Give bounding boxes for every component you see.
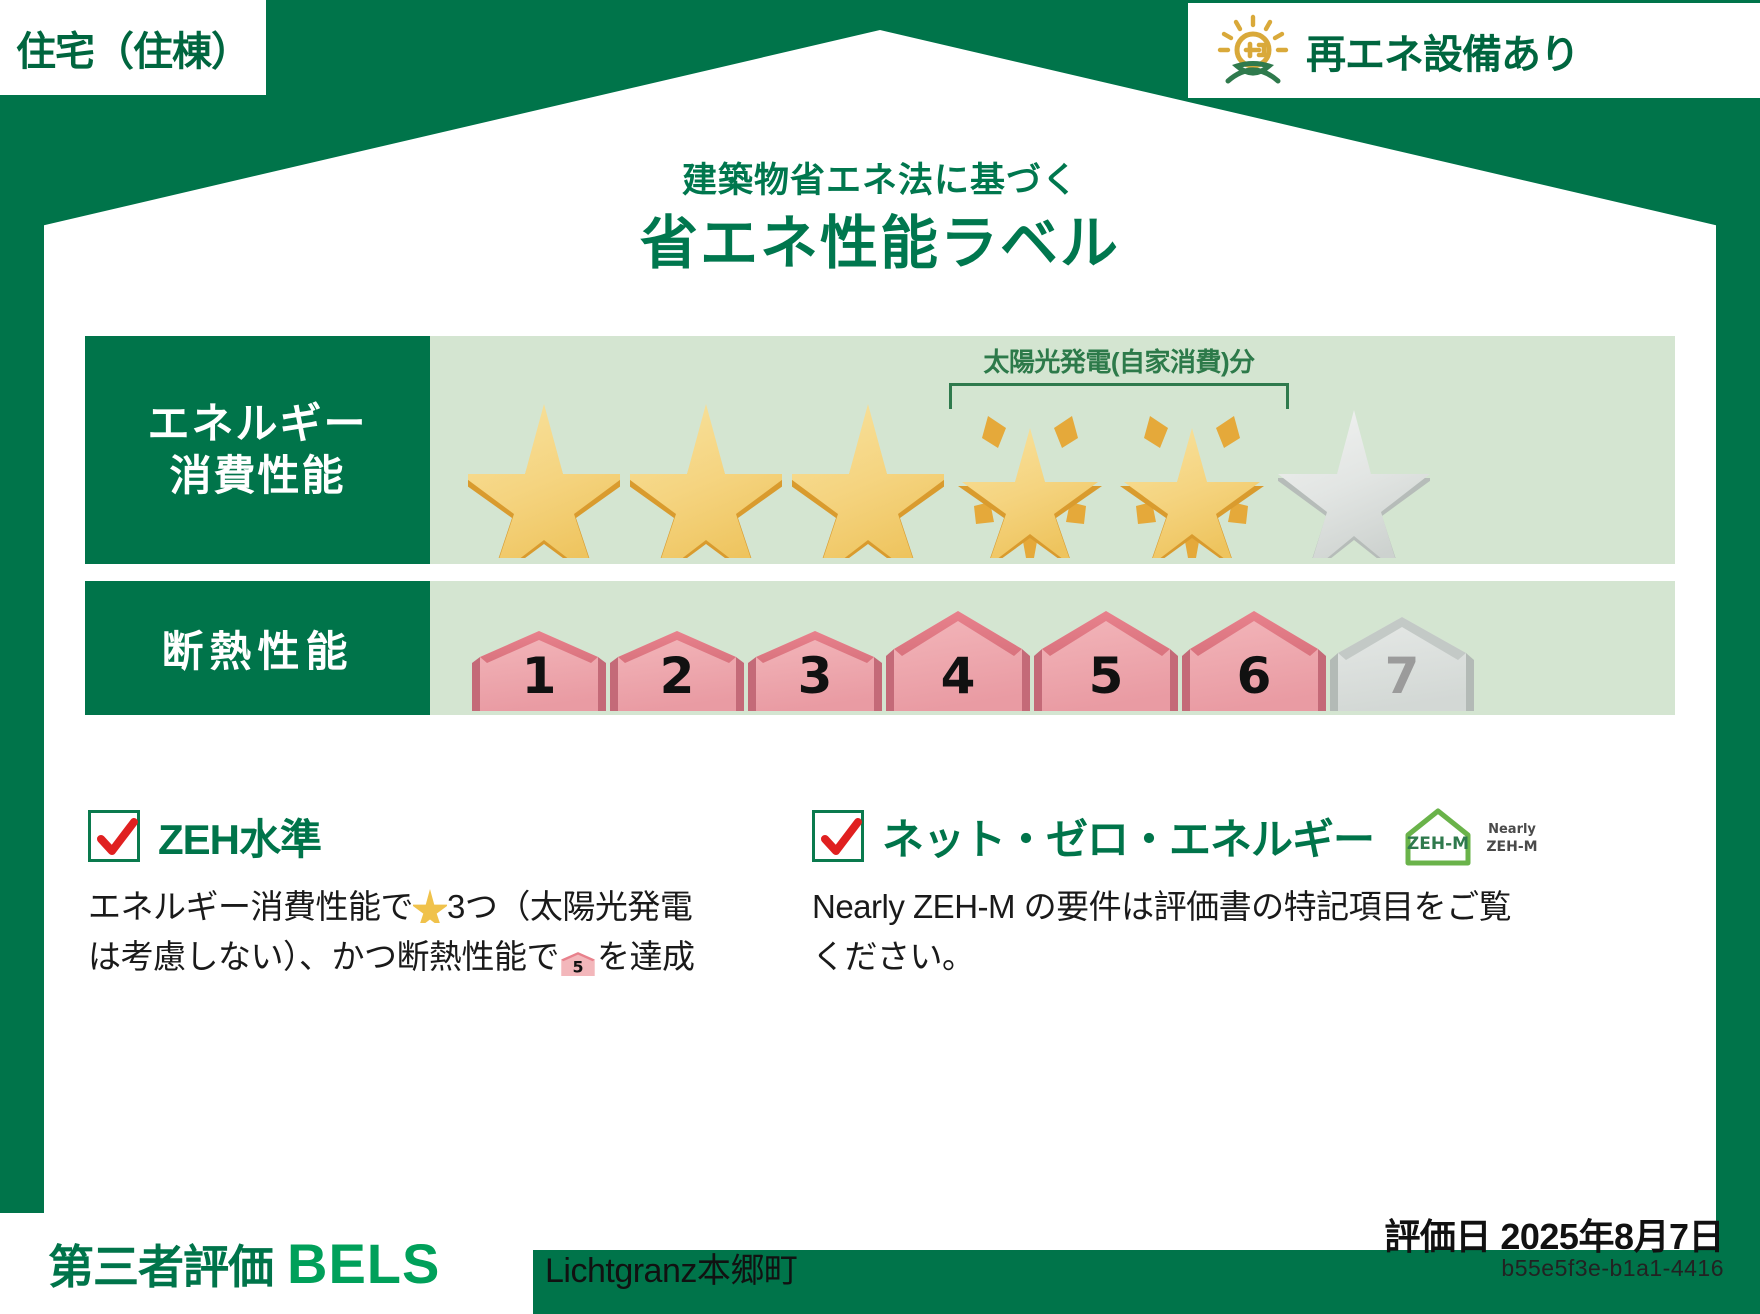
solar-annotation-text: 太陽光発電(自家消費)分 [949, 342, 1289, 379]
star-1-filled [468, 386, 620, 558]
dwelling-type-tag: 住宅（住棟） [0, 0, 266, 95]
check-icon [94, 815, 140, 861]
inline-house-icon: 5 [559, 941, 597, 981]
building-name: Lichtgranz本郷町 [545, 1243, 797, 1292]
zeh-m-logo-icon: ZEH-M Nearly ZEH-M [1402, 805, 1552, 867]
net-zero-energy-title: ネット・ゼロ・エネルギー [882, 806, 1374, 867]
insulation-house-1: 1 [472, 627, 606, 711]
zeh-standard-header: ZEH水準 [88, 808, 788, 864]
insulation-performance-row: 断熱性能 [85, 581, 1675, 715]
nze-checkbox[interactable] [812, 810, 864, 862]
label-title: 省エネ性能ラベル [0, 196, 1760, 280]
zeh-standard-block: ZEH水準 エネルギー消費性能で3つ（太陽光発電 は考慮しない）、かつ断熱性能で… [88, 808, 788, 981]
renewable-equipment-badge: 再エネ設備あり [1188, 3, 1760, 98]
zeh-desc-part3: を達成 [597, 938, 695, 975]
energy-star-rating [468, 386, 1430, 558]
inline-star-icon [413, 885, 447, 919]
third-party-evaluation-label: 第三者評価 [48, 1231, 273, 1297]
sun-plug-icon [1216, 14, 1290, 88]
star-2-filled [630, 386, 782, 558]
star-5-filled-solar [1116, 386, 1268, 558]
energy-label-line1: エネルギー [147, 398, 367, 451]
energy-rating-area: 太陽光発電(自家消費)分 [430, 336, 1675, 564]
zeh-checkbox[interactable] [88, 810, 140, 862]
insulation-level-number: 4 [886, 647, 1030, 705]
bels-logo-text: BELS [287, 1231, 440, 1296]
star-6-empty [1278, 386, 1430, 558]
star-4-filled-solar [954, 386, 1106, 558]
energy-performance-row: エネルギー 消費性能 太陽光発電(自家消費)分 [85, 336, 1675, 564]
insulation-level-number: 2 [610, 647, 744, 705]
insulation-house-2: 2 [610, 627, 744, 711]
insulation-house-3: 3 [748, 627, 882, 711]
insulation-level-number: 3 [748, 647, 882, 705]
insulation-performance-label: 断熱性能 [85, 581, 430, 715]
insulation-house-5: 5 [1034, 607, 1178, 711]
svg-text:Nearly: Nearly [1488, 822, 1536, 837]
svg-text:ZEH-M: ZEH-M [1407, 834, 1469, 854]
evaluation-date: 評価日 2025年8月7日 [1384, 1208, 1724, 1260]
insulation-level-number: 1 [472, 647, 606, 705]
bels-label-root: 住宅（住棟） 再エネ設備あり 建築物省エネ法 [0, 0, 1760, 1314]
renewable-equipment-label: 再エネ設備あり [1306, 22, 1579, 80]
energy-label-line2: 消費性能 [169, 450, 345, 503]
zeh-desc-part1: エネルギー消費性能で [88, 888, 413, 925]
evaluation-id: b55e5f3e-b1a1-4416 [1501, 1255, 1724, 1282]
net-zero-energy-block: ネット・ゼロ・エネルギー ZEH-M Nearly ZEH-M Nearly Z… [812, 808, 1542, 981]
zeh-desc-part2: は考慮しない）、かつ断熱性能で [88, 938, 559, 975]
svg-text:5: 5 [573, 958, 584, 977]
insulation-house-4: 4 [886, 607, 1030, 711]
insulation-level-scale: 1 2 [472, 607, 1474, 711]
insulation-level-number: 7 [1330, 647, 1474, 705]
svg-text:ZEH-M: ZEH-M [1486, 839, 1537, 855]
zeh-standard-description: エネルギー消費性能で3つ（太陽光発電 は考慮しない）、かつ断熱性能で5を達成 [88, 882, 788, 981]
energy-performance-label: エネルギー 消費性能 [85, 336, 430, 564]
net-zero-energy-description: Nearly ZEH-M の要件は評価書の特記項目をご覧ください。 [812, 882, 1542, 981]
zeh-standard-title: ZEH水準 [158, 806, 321, 867]
bels-footer-badge: 第三者評価 BELS [0, 1213, 533, 1314]
insulation-house-6: 6 [1182, 607, 1326, 711]
net-zero-energy-header: ネット・ゼロ・エネルギー ZEH-M Nearly ZEH-M [812, 808, 1542, 864]
zeh-desc-star-count: 3つ（太陽光発電 [447, 888, 692, 925]
insulation-rating-area: 1 2 [430, 581, 1675, 715]
insulation-house-7-empty: 7 [1330, 611, 1474, 711]
dwelling-type-label: 住宅（住棟） [16, 19, 250, 77]
check-icon [818, 815, 864, 861]
star-3-filled [792, 386, 944, 558]
insulation-level-number: 5 [1034, 647, 1178, 705]
insulation-level-number: 6 [1182, 647, 1326, 705]
